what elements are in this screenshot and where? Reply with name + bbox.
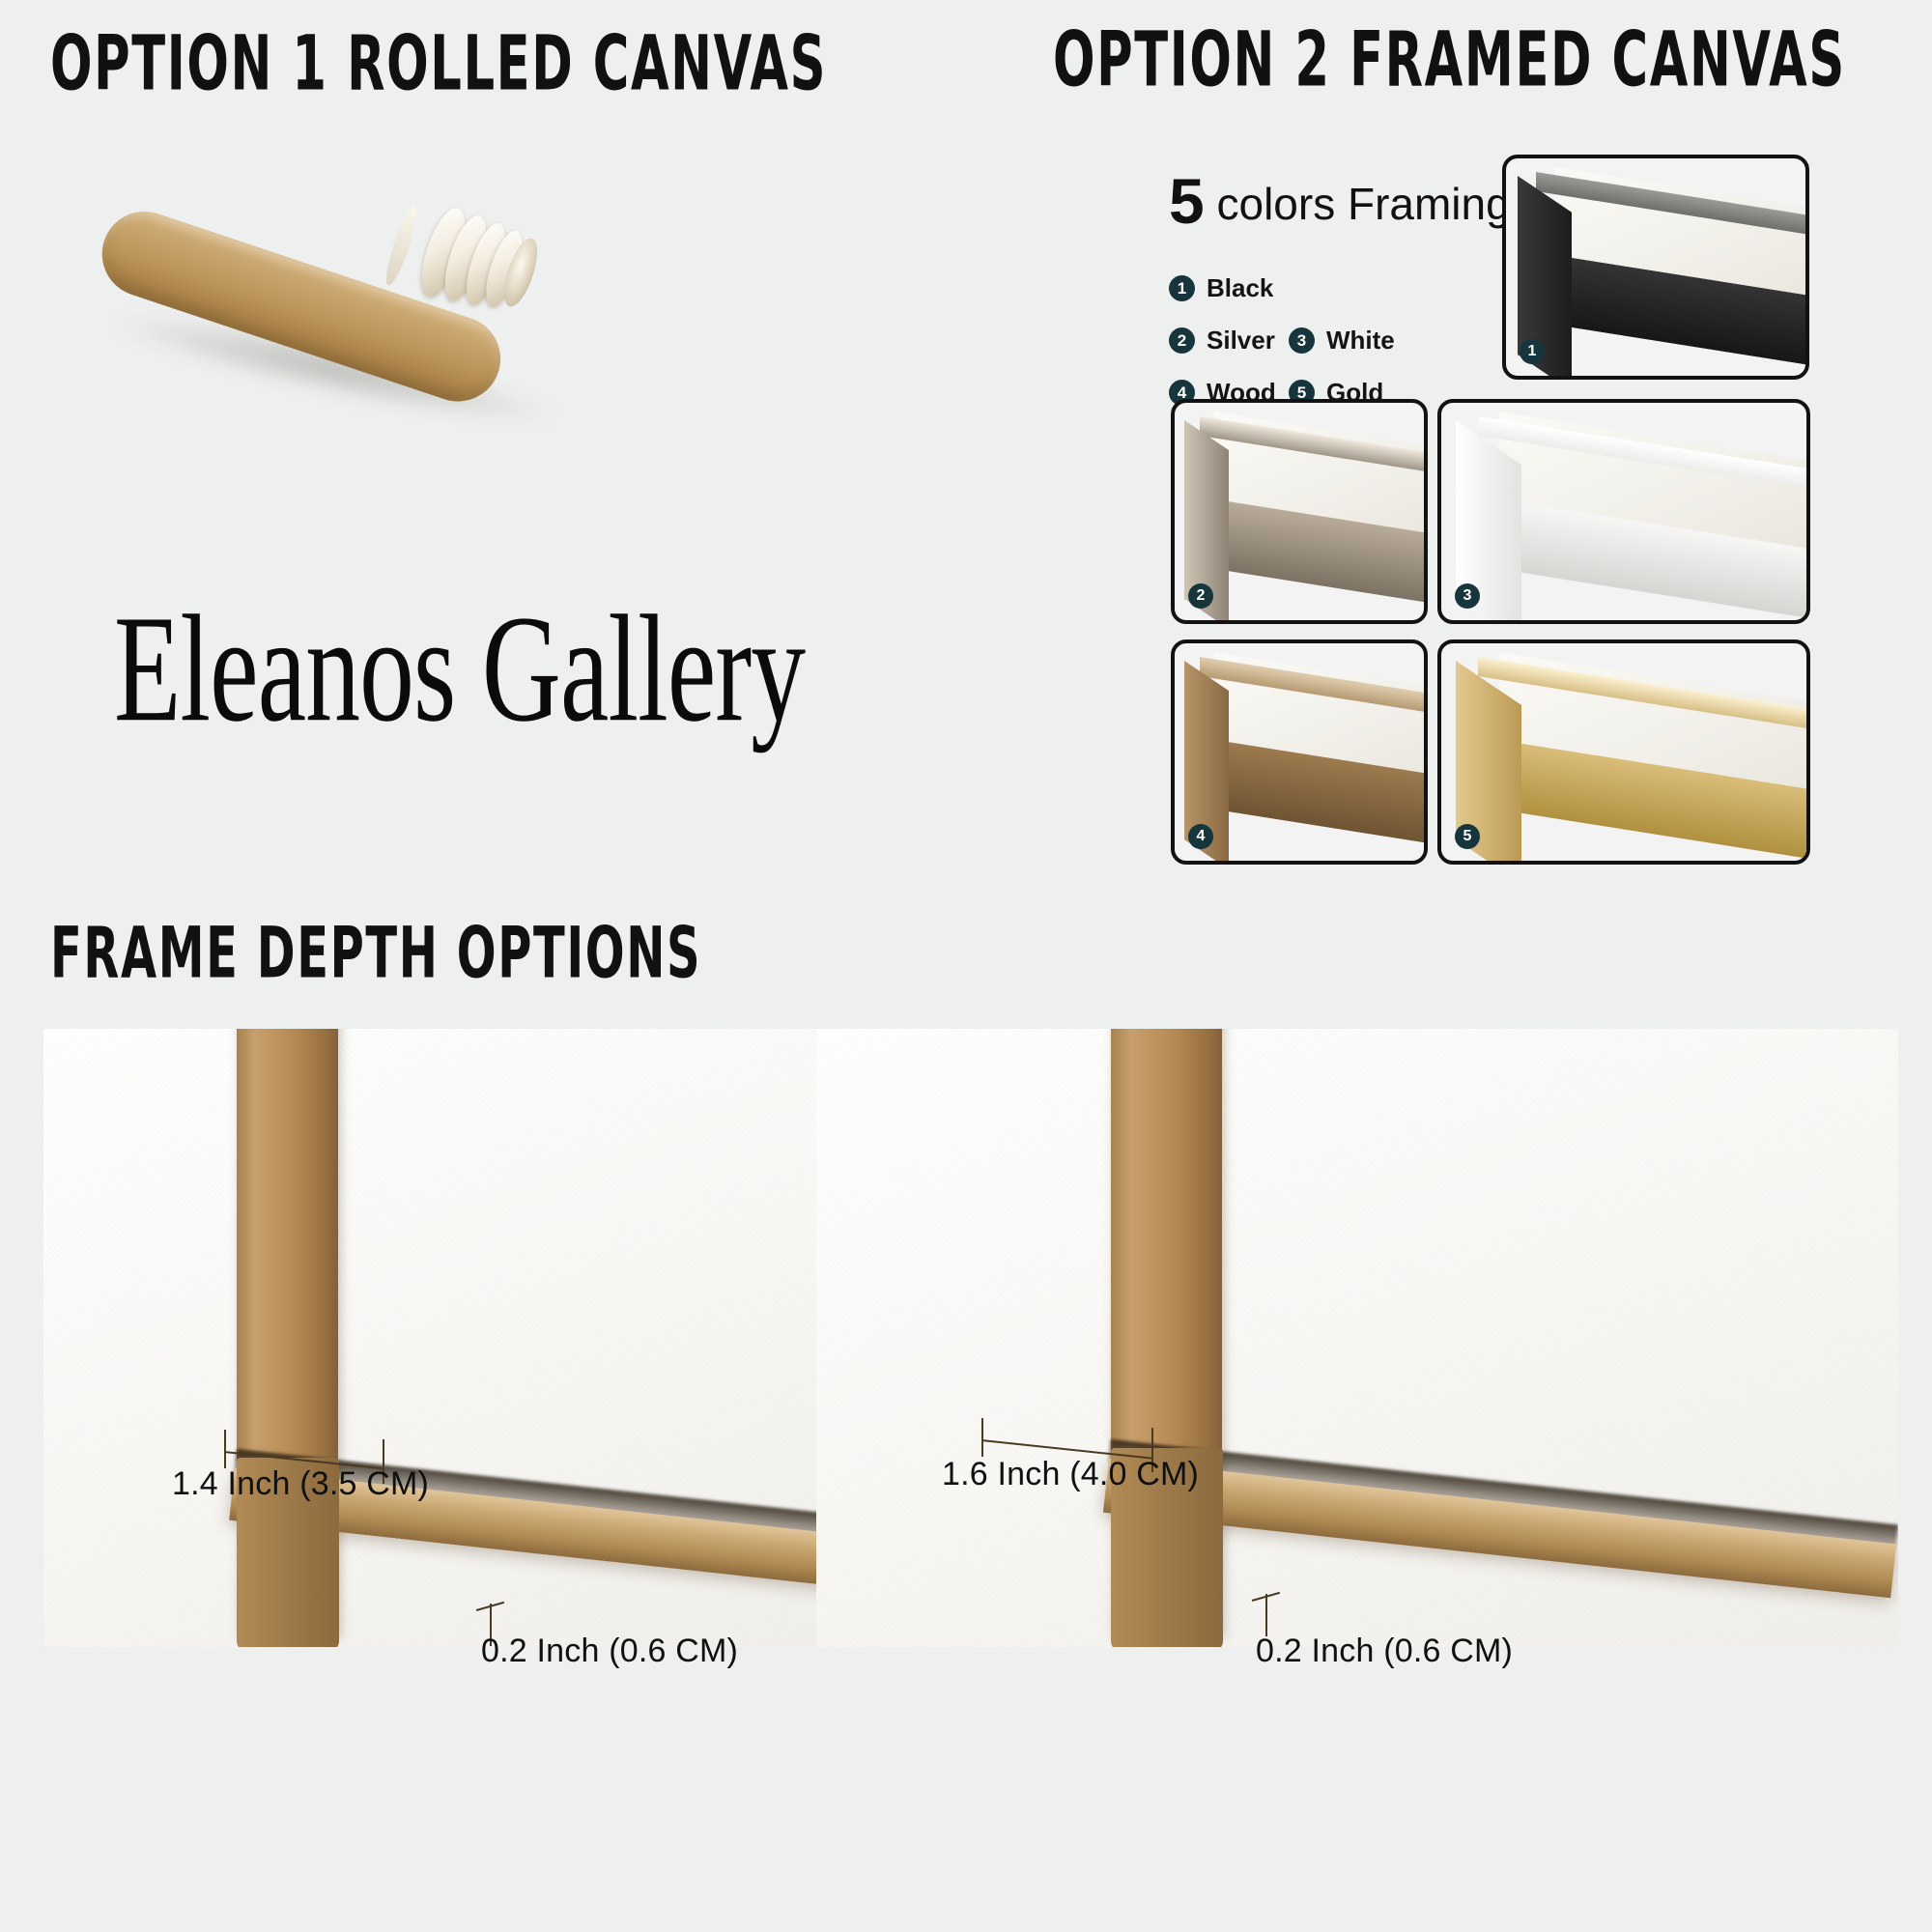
depth-width-label-left: 1.4 Inch (3.5 CM) xyxy=(172,1465,429,1503)
frame-depth-heading: FRAME DEPTH OPTIONS xyxy=(50,912,701,994)
tube-end-band xyxy=(381,204,421,288)
badge-3: 3 xyxy=(1289,327,1315,354)
legend-heading-rest: colors Framing xyxy=(1205,179,1511,229)
depth-width-label-right: 1.6 Inch (4.0 CM) xyxy=(942,1456,1199,1493)
frame-corner-render xyxy=(1506,158,1805,376)
legend-item-white[interactable]: 3 White xyxy=(1289,326,1408,355)
legend-heading: 5 colors Framing xyxy=(1169,169,1497,233)
frame-corner-render xyxy=(1441,643,1806,861)
caliper-tick xyxy=(981,1418,983,1457)
brand-wordmark: Eleanos Gallery xyxy=(114,580,805,757)
tile-badge-3: 3 xyxy=(1455,583,1480,609)
tile-badge-4: 4 xyxy=(1188,824,1213,849)
legend-label-white: White xyxy=(1326,326,1395,355)
thickness-caliper-right xyxy=(1252,1594,1281,1636)
legend-item-silver[interactable]: 2 Silver xyxy=(1169,326,1289,355)
legend-label-silver: Silver xyxy=(1207,326,1275,355)
legend-row: 1 Black xyxy=(1169,273,1497,303)
silver-frame-sample[interactable]: 2 xyxy=(1171,399,1428,624)
legend-item-black[interactable]: 1 Black xyxy=(1169,273,1289,303)
tile-badge-2: 2 xyxy=(1188,583,1213,609)
wood-frame-sample[interactable]: 4 xyxy=(1171,639,1428,865)
depth-panel-1-6-inch xyxy=(816,1029,1898,1647)
legend-label-black: Black xyxy=(1207,273,1273,303)
legend-row: 2 Silver 3 White xyxy=(1169,326,1497,355)
framing-colors-legend: 5 colors Framing 1 Black 2 Silver 3 Whit… xyxy=(1169,169,1497,430)
caliper-tick xyxy=(1265,1594,1267,1636)
tile-badge-5: 5 xyxy=(1455,824,1480,849)
black-frame-sample[interactable]: 1 xyxy=(1502,155,1809,380)
depth-thickness-label-left: 0.2 Inch (0.6 CM) xyxy=(481,1633,738,1670)
gold-frame-sample[interactable]: 5 xyxy=(1437,639,1810,865)
white-frame-sample[interactable]: 3 xyxy=(1437,399,1810,624)
legend-count: 5 xyxy=(1169,165,1205,237)
option-1-heading: OPTION 1 ROLLED CANVAS xyxy=(50,21,827,108)
caliper-tick xyxy=(224,1430,226,1468)
depth-panel-1-4-inch xyxy=(43,1029,908,1647)
frame-corner-render xyxy=(1175,643,1424,861)
option-2-heading: OPTION 2 FRAMED CANVAS xyxy=(1053,17,1846,104)
rolled-canvas-tube-illustration xyxy=(87,159,589,440)
frame-corner-render xyxy=(1175,403,1424,620)
depth-thickness-label-right: 0.2 Inch (0.6 CM) xyxy=(1256,1633,1513,1670)
tile-badge-1: 1 xyxy=(1520,339,1545,364)
badge-1: 1 xyxy=(1169,275,1195,301)
badge-2: 2 xyxy=(1169,327,1195,354)
frame-corner-render xyxy=(1441,403,1806,620)
